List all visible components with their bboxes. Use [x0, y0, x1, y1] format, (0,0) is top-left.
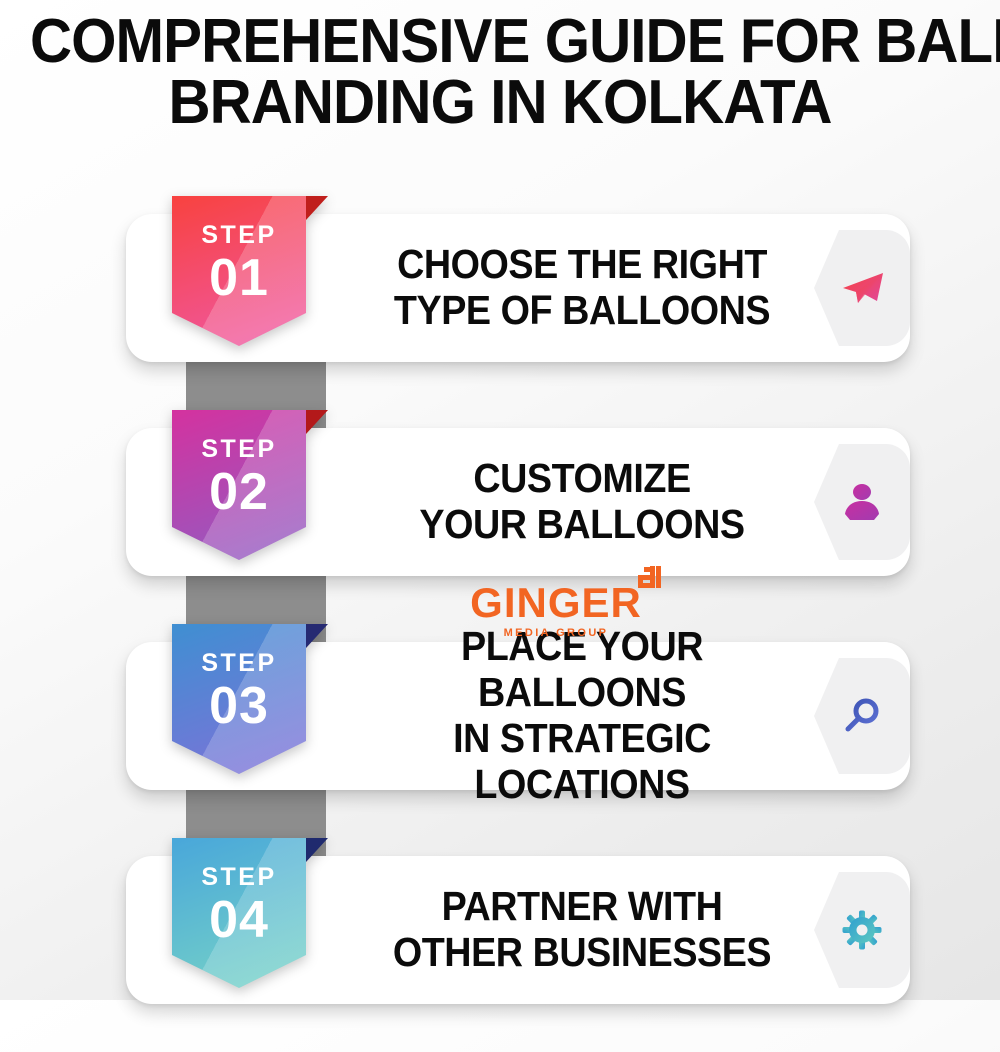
- step-ribbon-03: STEP03: [172, 624, 306, 774]
- step-row: CUSTOMIZEYOUR BALLOONSSTEP02: [0, 410, 1000, 576]
- gear-icon: [842, 910, 882, 950]
- step-row: PARTNER WITHOTHER BUSINESSESSTEP04: [0, 838, 1000, 1004]
- user-icon: [843, 482, 881, 522]
- step-ribbon-01: STEP01: [172, 196, 306, 346]
- step-title-line-1: CHOOSE THE RIGHT: [380, 242, 785, 288]
- step-ribbon-02: STEP02: [172, 410, 306, 560]
- step-title-line-1: PARTNER WITH: [380, 884, 785, 930]
- step-icon-plate[interactable]: [814, 872, 910, 988]
- step-icon-plate[interactable]: [814, 230, 910, 346]
- step-number: 01: [209, 252, 269, 304]
- step-title-line-2: YOUR BALLOONS: [380, 502, 785, 548]
- nested-squares-mark-icon: [630, 566, 664, 598]
- page-title-line-2: BRANDING IN KOLKATA: [30, 73, 970, 134]
- step-title: PLACE YOUR BALLOONSIN STRATEGIC LOCATION…: [362, 624, 802, 808]
- step-title-line-2: TYPE OF BALLOONS: [380, 288, 785, 334]
- step-ribbon-text: STEP02: [172, 410, 306, 560]
- step-title-line-1: CUSTOMIZE: [380, 456, 785, 502]
- search-icon: [842, 696, 882, 736]
- step-number: 02: [209, 466, 269, 518]
- step-ribbon-text: STEP03: [172, 624, 306, 774]
- step-number: 04: [209, 894, 269, 946]
- step-ribbon-04: STEP04: [172, 838, 306, 988]
- step-title: CUSTOMIZEYOUR BALLOONS: [362, 456, 802, 548]
- step-title-line-2: IN STRATEGIC LOCATIONS: [380, 716, 785, 808]
- brand-logo-name: GINGER: [456, 582, 656, 624]
- brand-logo: GINGER MEDIA GROUP: [456, 582, 656, 639]
- step-row: PLACE YOUR BALLOONSIN STRATEGIC LOCATION…: [0, 624, 1000, 790]
- page-title-line-1: COMPREHENSIVE GUIDE FOR BALLOON: [30, 12, 970, 73]
- step-number: 03: [209, 680, 269, 732]
- page-title: COMPREHENSIVE GUIDE FOR BALLOON BRANDING…: [0, 12, 1000, 134]
- step-icon-plate[interactable]: [814, 444, 910, 560]
- step-word: STEP: [201, 437, 276, 462]
- step-ribbon-text: STEP04: [172, 838, 306, 988]
- step-title: CHOOSE THE RIGHTTYPE OF BALLOONS: [362, 242, 802, 334]
- step-word: STEP: [201, 651, 276, 676]
- step-title: PARTNER WITHOTHER BUSINESSES: [362, 884, 802, 976]
- step-word: STEP: [201, 865, 276, 890]
- brand-logo-tagline: MEDIA GROUP: [456, 627, 656, 639]
- step-ribbon-text: STEP01: [172, 196, 306, 346]
- step-icon-plate[interactable]: [814, 658, 910, 774]
- paper-plane-icon: [839, 267, 885, 309]
- step-word: STEP: [201, 223, 276, 248]
- step-title-line-2: OTHER BUSINESSES: [380, 930, 785, 976]
- step-row: CHOOSE THE RIGHTTYPE OF BALLOONSSTEP01: [0, 196, 1000, 362]
